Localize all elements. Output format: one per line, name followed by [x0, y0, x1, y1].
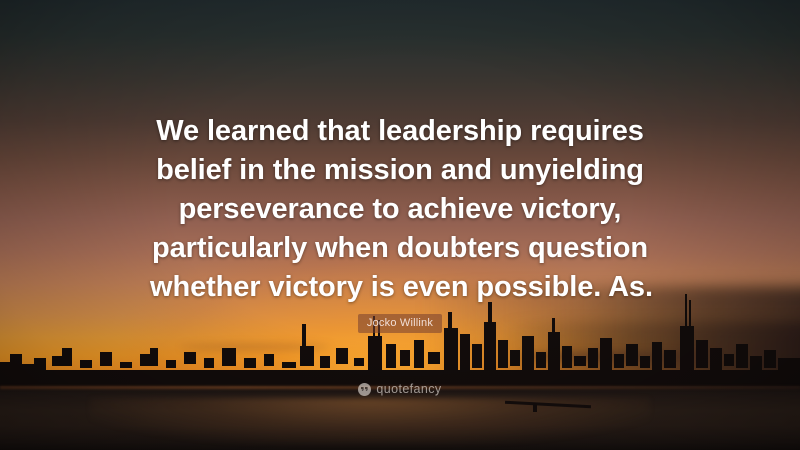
author-name-badge: Jocko Willink	[358, 314, 442, 333]
quotefancy-circle-logo-icon	[358, 383, 371, 396]
watermark: quotefancy	[0, 382, 800, 396]
pier-post-silhouette	[533, 403, 537, 412]
quote-line: whether victory is even possible. As.	[150, 268, 650, 307]
quote-text: We learned that leadership requires beli…	[0, 112, 800, 307]
quote-poster: We learned that leadership requires beli…	[0, 0, 800, 450]
quote-line: perseverance to achieve victory,	[150, 190, 650, 229]
watermark-brand-text: quotefancy	[376, 382, 441, 396]
author-attribution: Jocko Willink	[0, 313, 800, 333]
quote-line: belief in the mission and unyielding	[150, 151, 650, 190]
quote-line: We learned that leadership requires	[150, 112, 650, 151]
quote-line: particularly when doubters question	[150, 229, 650, 268]
